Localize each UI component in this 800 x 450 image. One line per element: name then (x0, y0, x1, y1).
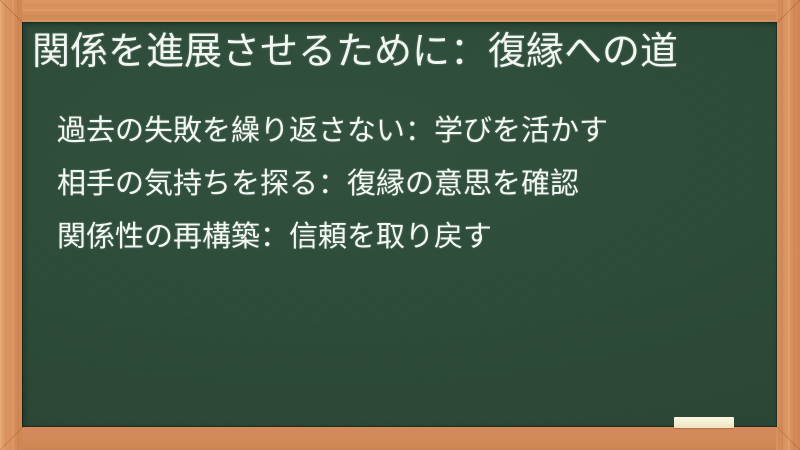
bullet-item: 関係性の再構築：信頼を取り戻す (57, 210, 747, 263)
frame-rail-left (0, 0, 22, 450)
frame-rail-right (776, 0, 800, 450)
chalkboard-slide: 関係を進展させるために：復縁への道 過去の失敗を繰り返さない：学びを活かす 相手… (0, 0, 800, 450)
bullet-list: 過去の失敗を繰り返さない：学びを活かす 相手の気持ちを探る：復縁の意思を確認 関… (57, 104, 747, 263)
chalk-stick-icon (674, 417, 734, 428)
slide-title: 関係を進展させるために：復縁への道 (32, 28, 732, 74)
frame-rail-bottom (0, 427, 800, 450)
frame-rail-top (0, 0, 800, 22)
bullet-item: 相手の気持ちを探る：復縁の意思を確認 (57, 157, 747, 210)
bullet-item: 過去の失敗を繰り返さない：学びを活かす (57, 104, 747, 157)
